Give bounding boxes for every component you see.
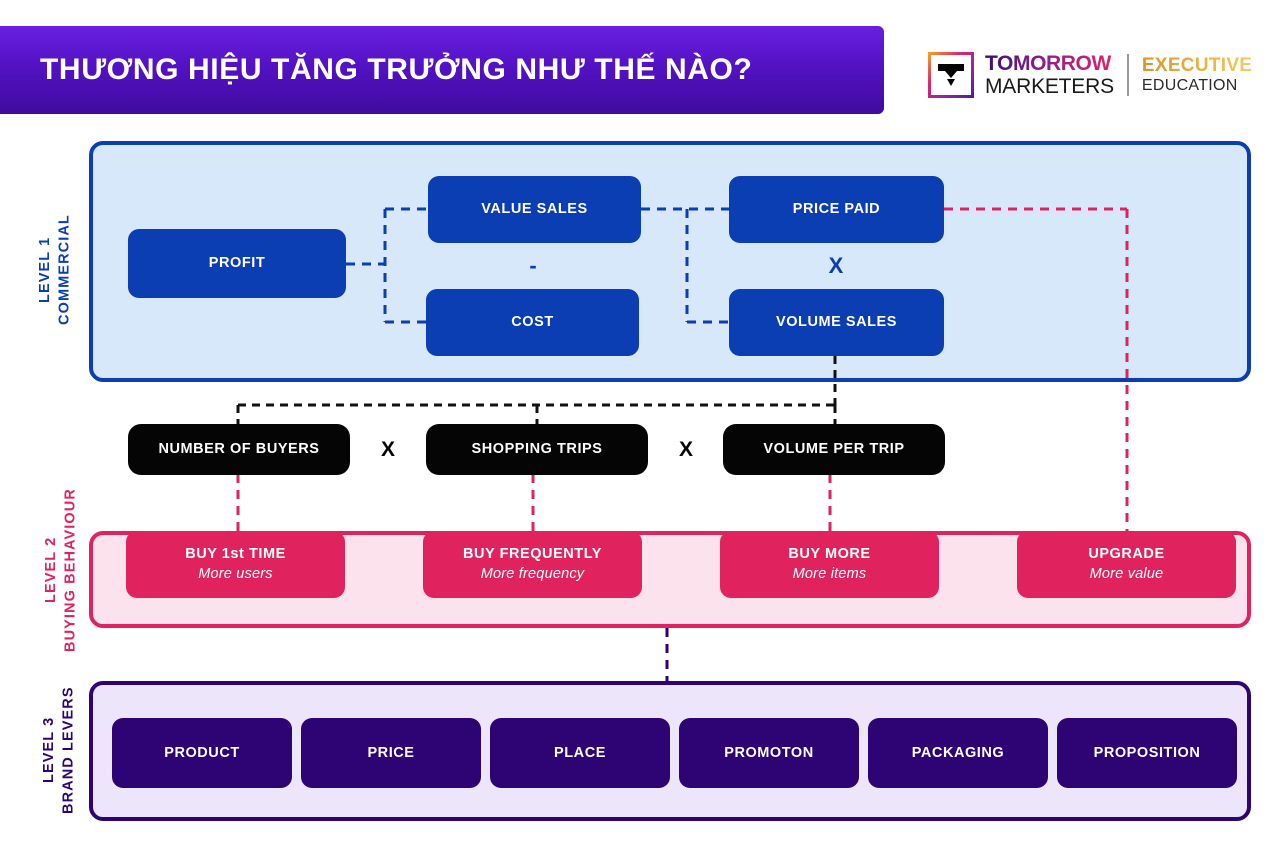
- level3-label-line2: BRAND LEVERS: [61, 686, 77, 814]
- node-buy-1st-time-title: BUY 1st TIME: [185, 545, 286, 563]
- node-cost-label: COST: [511, 313, 553, 331]
- node-upgrade[interactable]: UPGRADE More value: [1017, 531, 1236, 598]
- node-buy-frequently-subtitle: More frequency: [481, 565, 585, 584]
- page-title: THƯƠNG HIỆU TĂNG TRƯỞNG NHƯ THẾ NÀO?: [40, 53, 752, 87]
- node-proposition[interactable]: PROPOSITION: [1057, 718, 1237, 788]
- node-volume-sales[interactable]: VOLUME SALES: [729, 289, 944, 356]
- node-buy-more[interactable]: BUY MORE More items: [720, 531, 939, 598]
- logo-executive-text: EXECUTIVE: [1142, 56, 1252, 75]
- logo-divider: [1127, 54, 1129, 96]
- level2-side-label: LEVEL 2BUYING BEHAVIOUR: [42, 470, 81, 670]
- node-number-of-buyers[interactable]: NUMBER OF BUYERS: [128, 424, 350, 475]
- times-operator-drivers-1: X: [362, 434, 414, 466]
- infographic-canvas: THƯƠNG HIỆU TĂNG TRƯỞNG NHƯ THẾ NÀO? TOM…: [0, 0, 1280, 853]
- level1-side-label: LEVEL 1COMMERCIAL: [36, 180, 75, 360]
- level1-label-line2: COMMERCIAL: [57, 215, 73, 326]
- drivers-to-behaviour-connectors: [238, 474, 830, 534]
- node-upgrade-title: UPGRADE: [1088, 545, 1164, 563]
- header-banner: THƯƠNG HIỆU TĂNG TRƯỞNG NHƯ THẾ NÀO?: [0, 26, 884, 114]
- node-shopping-trips[interactable]: SHOPPING TRIPS: [426, 424, 648, 475]
- node-volume-per-trip-label: VOLUME PER TRIP: [763, 440, 904, 458]
- node-profit[interactable]: PROFIT: [128, 229, 346, 298]
- node-packaging-label: PACKAGING: [912, 744, 1005, 762]
- logo-wordmark: TOMORROW MARKETERS EXECUTIVE EDUCATION: [985, 53, 1252, 97]
- level2-label-line1: LEVEL 2: [43, 537, 59, 603]
- node-buy-more-subtitle: More items: [793, 565, 867, 584]
- node-number-of-buyers-label: NUMBER OF BUYERS: [158, 440, 319, 458]
- logo-education-text: EDUCATION: [1142, 78, 1252, 94]
- node-value-sales[interactable]: VALUE SALES: [428, 176, 641, 243]
- node-product-label: PRODUCT: [164, 744, 240, 762]
- node-volume-per-trip[interactable]: VOLUME PER TRIP: [723, 424, 945, 475]
- node-price-paid-label: PRICE PAID: [793, 200, 880, 218]
- node-buy-frequently-title: BUY FREQUENTLY: [463, 545, 602, 563]
- logo-secondary-words: EXECUTIVE EDUCATION: [1142, 56, 1252, 94]
- node-price-label: PRICE: [367, 744, 414, 762]
- node-promoton[interactable]: PROMOTON: [679, 718, 859, 788]
- node-buy-1st-time[interactable]: BUY 1st TIME More users: [126, 531, 345, 598]
- funnel-t-icon: [937, 61, 965, 89]
- level3-side-label: LEVEL 3BRAND LEVERS: [40, 680, 79, 820]
- node-profit-label: PROFIT: [209, 254, 265, 272]
- node-value-sales-label: VALUE SALES: [481, 200, 588, 218]
- tomorrow-marketers-logo-mark-icon: [928, 52, 974, 98]
- node-packaging[interactable]: PACKAGING: [868, 718, 1048, 788]
- node-cost[interactable]: COST: [426, 289, 639, 356]
- node-product[interactable]: PRODUCT: [112, 718, 292, 788]
- node-shopping-trips-label: SHOPPING TRIPS: [472, 440, 603, 458]
- node-price-paid[interactable]: PRICE PAID: [729, 176, 944, 243]
- logo-mark-inner: [931, 55, 971, 95]
- level3-label-line1: LEVEL 3: [41, 717, 57, 783]
- node-promoton-label: PROMOTON: [724, 744, 814, 762]
- node-buy-1st-time-subtitle: More users: [198, 565, 273, 584]
- node-volume-sales-label: VOLUME SALES: [776, 313, 897, 331]
- node-place[interactable]: PLACE: [490, 718, 670, 788]
- minus-operator: -: [505, 250, 561, 282]
- level1-label-line1: LEVEL 1: [37, 237, 53, 303]
- node-place-label: PLACE: [554, 744, 606, 762]
- brand-logo: TOMORROW MARKETERS EXECUTIVE EDUCATION: [928, 46, 1252, 104]
- node-price[interactable]: PRICE: [301, 718, 481, 788]
- level2-label-line2: BUYING BEHAVIOUR: [63, 488, 79, 652]
- times-operator-drivers-2: X: [660, 434, 712, 466]
- node-buy-more-title: BUY MORE: [788, 545, 870, 563]
- logo-primary-words: TOMORROW MARKETERS: [985, 53, 1114, 97]
- node-buy-frequently[interactable]: BUY FREQUENTLY More frequency: [423, 531, 642, 598]
- logo-marketers-text: MARKETERS: [985, 76, 1114, 97]
- node-proposition-label: PROPOSITION: [1094, 744, 1201, 762]
- node-upgrade-subtitle: More value: [1090, 565, 1164, 584]
- times-operator-level1: X: [808, 250, 864, 282]
- logo-tomorrow-text: TOMORROW: [985, 53, 1114, 74]
